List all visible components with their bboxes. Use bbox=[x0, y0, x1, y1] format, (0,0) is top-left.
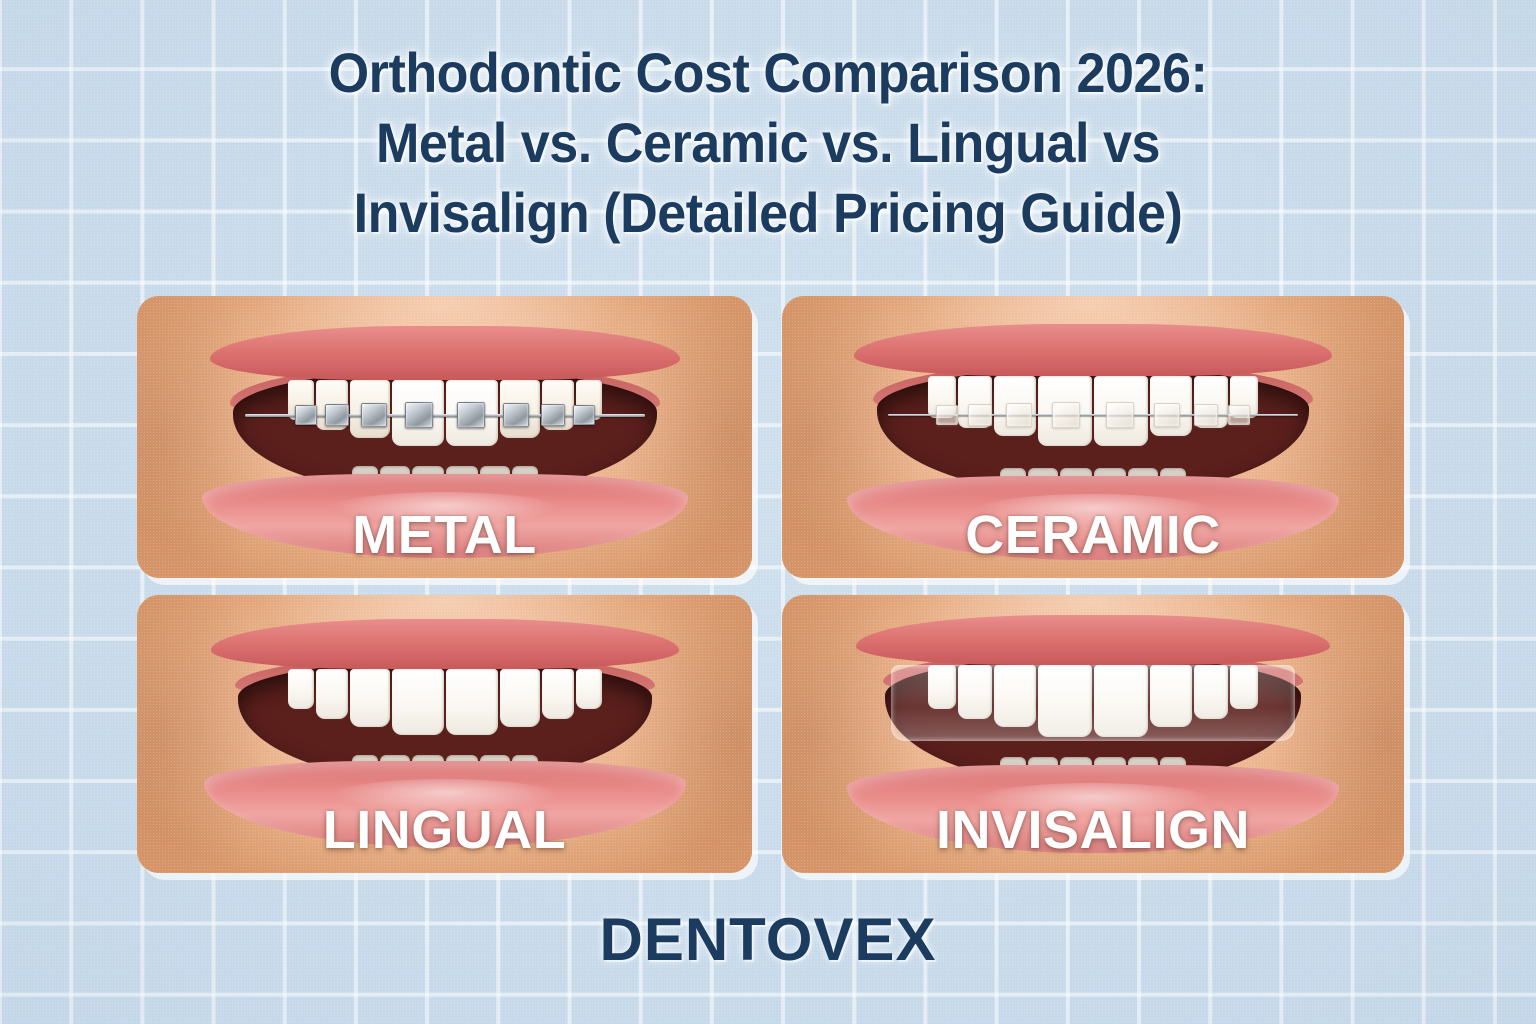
title-line-1: Orthodontic Cost Comparison 2026: bbox=[54, 38, 1482, 108]
upper-teeth-row bbox=[241, 669, 649, 741]
lip-highlight bbox=[331, 779, 559, 813]
clear-aligner-overlay bbox=[891, 665, 1295, 741]
upper-lip bbox=[856, 615, 1330, 665]
comparison-card-metal[interactable]: METAL bbox=[137, 296, 752, 578]
smile-photo-ceramic bbox=[782, 296, 1404, 578]
lip-highlight bbox=[975, 494, 1211, 528]
lip-highlight bbox=[974, 783, 1212, 817]
upper-lip bbox=[211, 619, 679, 669]
lip-highlight bbox=[330, 492, 560, 526]
infographic-poster: Orthodontic Cost Comparison 2026: Metal … bbox=[0, 0, 1536, 1024]
comparison-card-invisalign[interactable]: INVISALIGN bbox=[782, 595, 1404, 873]
comparison-card-ceramic[interactable]: CERAMIC bbox=[782, 296, 1404, 578]
smile-photo-lingual bbox=[137, 595, 752, 873]
smile-photo-invisalign bbox=[782, 595, 1404, 873]
brand-name: DENTOVEX bbox=[0, 906, 1536, 974]
title-line-3: Invisalign (Detailed Pricing Guide) bbox=[54, 178, 1482, 248]
bracket-row-metal bbox=[249, 402, 641, 428]
title-line-2: Metal vs. Ceramic vs. Lingual vs bbox=[54, 108, 1482, 178]
bracket-row-ceramic bbox=[893, 402, 1293, 428]
upper-lip bbox=[854, 324, 1332, 376]
upper-lip bbox=[210, 326, 680, 380]
comparison-card-lingual[interactable]: LINGUAL bbox=[137, 595, 752, 873]
comparison-card-grid: METAL bbox=[137, 296, 1404, 873]
smile-photo-metal bbox=[137, 296, 752, 578]
page-title: Orthodontic Cost Comparison 2026: Metal … bbox=[0, 38, 1536, 248]
